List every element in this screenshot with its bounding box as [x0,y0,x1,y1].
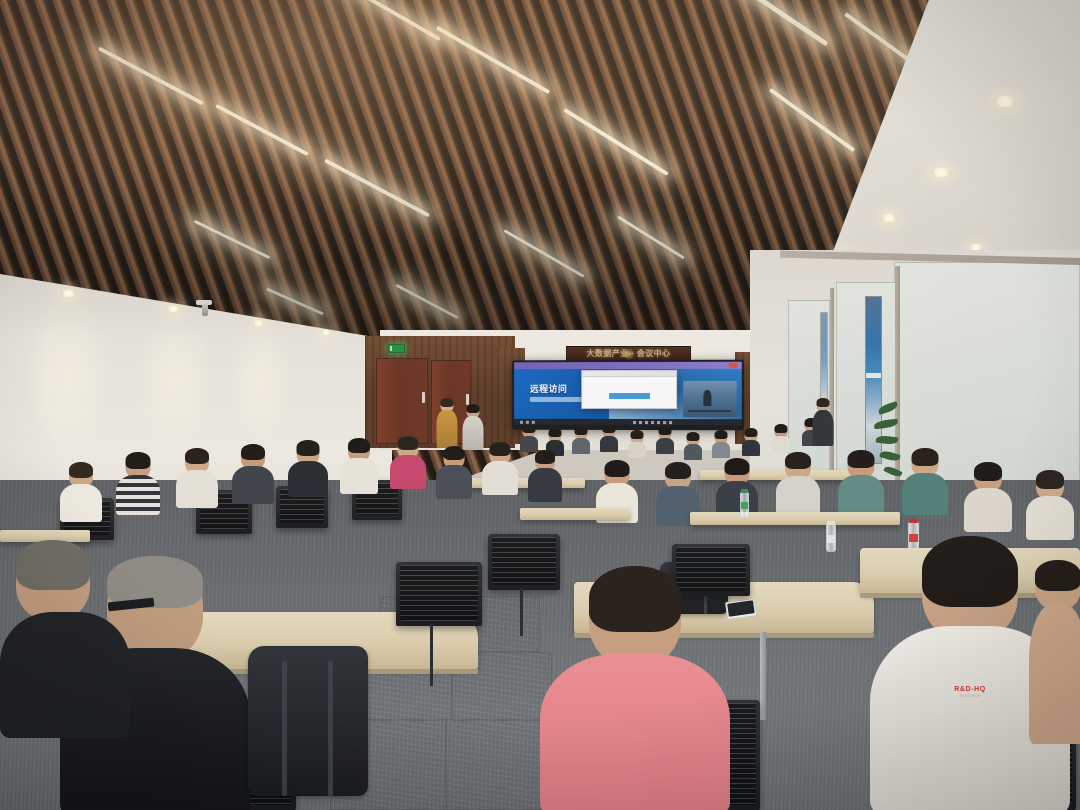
attendee-body [176,470,218,508]
attendee [232,444,274,500]
attendee-hair [535,450,555,464]
attendee [116,452,160,510]
slide-figure [703,390,712,407]
slide-title: 远程访问 [530,382,568,395]
attendee [600,424,618,450]
taskbar-icon[interactable] [669,421,672,424]
attendee-hair [745,428,758,437]
attendee-hair [490,442,511,456]
attendee-head [922,536,1018,640]
attendee-hair [775,424,788,433]
attendee-hair [974,462,1002,481]
attendee-body [902,473,948,515]
shirt-logo: R&D-HQ RESEARCH [954,686,986,698]
attendee [390,436,426,486]
attendee-body [742,440,760,456]
plant-leaf [874,419,899,429]
attendee-hair [69,462,93,478]
attendee-hair [241,444,265,460]
attendee [776,452,820,512]
attendee-body [390,455,426,489]
attendee [684,432,702,458]
browser-close-icon[interactable] [729,363,738,368]
attendee-body [528,468,562,502]
attendee-body [572,438,590,454]
plant-leaf [877,401,898,415]
attendee-body [628,442,646,458]
attendee-hair [1036,470,1064,489]
attendee-body [116,475,160,515]
dialog-confirm-button[interactable] [609,393,650,399]
door-handle[interactable] [422,392,425,403]
attendee [838,450,884,512]
bottle-cap [741,489,748,493]
dialog-window[interactable] [582,369,678,408]
attendee-hair [549,428,562,437]
attendee [288,440,328,494]
attendee-head [16,540,90,620]
backpack-strap [282,661,287,796]
attendee [520,424,538,450]
slide-bench [688,410,731,412]
desk [690,512,900,525]
taskbar-icon[interactable] [633,421,636,424]
attendee-body [712,442,730,458]
phone-screen [727,600,755,616]
attendee-hair [467,404,480,413]
attendee [528,450,562,498]
security-camera-icon [202,304,208,316]
attendee-body [463,416,484,450]
attendee-standing [812,398,834,446]
taskbar-icon[interactable] [663,421,666,424]
taskbar-icon[interactable] [526,420,529,423]
water-bottle [740,492,749,518]
presenter [436,398,458,448]
browser-topbar [514,362,742,370]
attendee [772,424,790,450]
attendee-body [838,475,884,517]
taskbar-icon[interactable] [520,420,523,423]
attendee [628,430,646,456]
attendee-body [540,654,730,810]
bottle-label [741,502,748,509]
presenter-body [437,410,458,448]
desktop-taskbar [514,419,742,425]
attendee [964,462,1012,528]
attendee-body [232,466,274,504]
attendee-body [684,444,702,460]
attendee-body [436,465,472,499]
attendee-head [1035,560,1080,610]
attendee-body [600,436,618,452]
exit-door-left[interactable] [376,358,428,444]
attendee-hair [817,398,830,407]
recessed-downlight [880,214,898,222]
attendee [436,446,472,496]
attendee [712,430,730,456]
attendee-hair [348,438,370,453]
recessed-downlight [930,168,952,177]
attendee-foreground-center [540,566,730,810]
attendee-standing [462,404,484,450]
attendee-body [60,484,102,522]
attendee-hair [665,462,691,479]
attendee-hair [126,452,151,469]
attendee-hair [297,440,320,456]
attendee [60,462,102,518]
taskbar-icon[interactable] [639,421,642,424]
attendee-hair [575,426,588,435]
bottle-label [827,535,835,543]
attendee-body [1029,604,1080,744]
taskbar-icon[interactable] [657,421,660,424]
window-sill [866,373,881,378]
attendee-hair [589,566,681,632]
attendee [482,442,518,492]
attendee-body [776,476,820,516]
attendee-hair [444,446,465,460]
attendee-body [482,461,518,495]
presentation-display[interactable]: 远程访问 [512,360,744,431]
plant-leaf [876,435,899,446]
recessed-downlight [320,330,332,335]
attendee-hair [523,424,536,433]
slide-photo [683,381,736,418]
chair-mesh-back [400,565,478,621]
attendee-hair [659,426,672,435]
attendee-hair [1035,560,1080,591]
attendee-body [964,488,1012,532]
attendee [656,426,674,452]
desk [520,508,630,520]
desk [455,478,585,488]
attendee-hair [398,436,419,450]
attendee-hair [687,432,700,441]
attendee-hair [631,430,644,439]
taskbar-icon[interactable] [645,421,648,424]
exit-sign [388,344,405,353]
attendee [742,428,760,454]
backpack-strap [328,661,333,796]
shirt-logo-text: R&D-HQ [954,686,986,693]
attendee [572,426,590,452]
dialog-titlebar [583,370,677,376]
attendee-body [0,612,130,738]
attendee-body [813,410,834,446]
backpack [248,646,368,796]
attendee-hair [605,460,630,477]
attendee-body [772,436,790,452]
attendee [902,448,948,510]
attendee [340,438,378,490]
attendee-hair [715,430,728,439]
attendee [716,458,758,516]
recessed-downlight [60,290,77,297]
attendee-hair [922,536,1018,607]
office-chair[interactable] [396,562,482,626]
attendee-body [656,438,674,454]
recessed-downlight [252,320,265,326]
desk-leg [760,632,766,720]
attendee-body [288,461,328,497]
attendee-hair [725,458,750,475]
taskbar-icon[interactable] [651,421,654,424]
attendee [1028,560,1080,740]
water-bottle [826,524,836,552]
attendee-hair [185,448,209,464]
attendee-hair [603,424,616,433]
bottle-cap [909,519,918,523]
attendee [1026,470,1074,536]
attendee-hair [16,540,90,590]
attendee-hair [848,450,875,468]
attendee [0,540,130,730]
display-screen: 远程访问 [514,362,742,426]
recessed-downlight [166,306,181,312]
venue-banner-text: 大数据产业 · 会议中心 [587,348,671,359]
chair-post [430,624,433,686]
attendee-body [340,458,378,494]
taskbar-icon[interactable] [532,420,535,423]
attendee [176,448,218,504]
attendee-hair [912,448,939,466]
plant-leaf [883,464,902,478]
exit-sign-glyph [390,346,403,351]
chair-post [520,588,523,636]
shirt-logo-subtext: RESEARCH [954,694,986,698]
attendee-hair [785,452,811,469]
conference-room-photo: 大数据产业 · 会议中心 远程访问 [0,0,1080,810]
recessed-downlight [992,96,1018,107]
bottle-cap [827,521,835,525]
venue-banner: 大数据产业 · 会议中心 [566,346,691,361]
attendee-body [1026,496,1074,540]
attendee-head [589,566,681,666]
presenter-hair [441,398,454,407]
